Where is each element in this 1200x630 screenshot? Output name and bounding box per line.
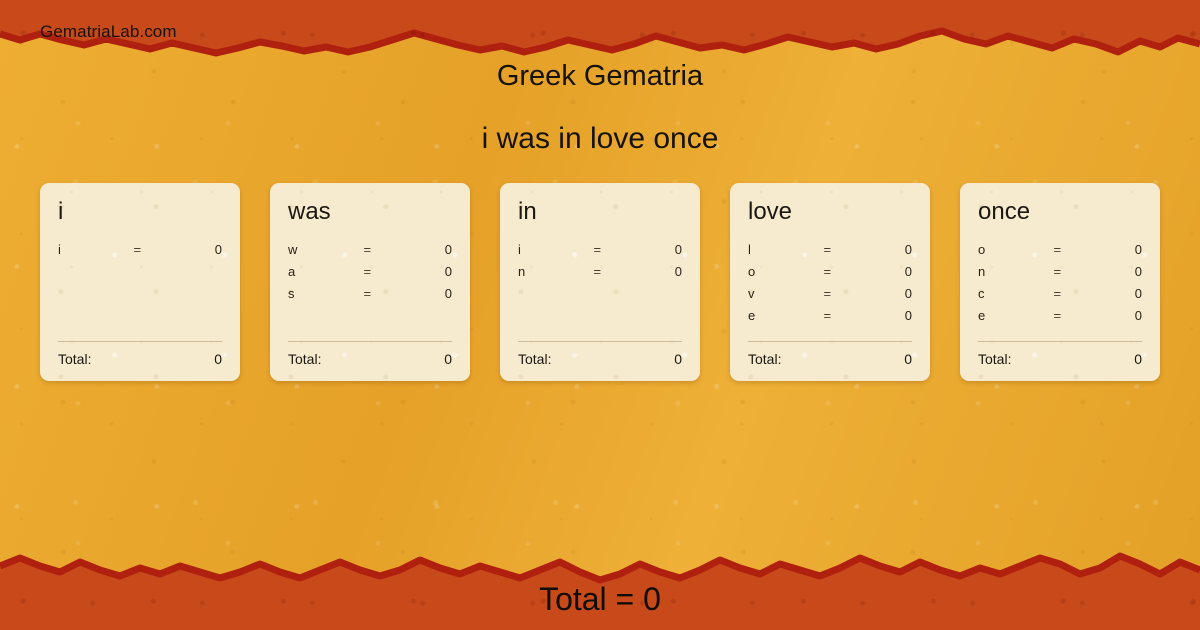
letter-value: 0 bbox=[853, 242, 912, 257]
letter-row: e=0 bbox=[748, 304, 912, 326]
card-total-value: 0 bbox=[674, 351, 682, 367]
equals-sign: = bbox=[593, 264, 623, 279]
letter-value: 0 bbox=[853, 308, 912, 323]
letter-char: e bbox=[748, 308, 823, 323]
equals-sign: = bbox=[363, 264, 393, 279]
letter-row: n=0 bbox=[978, 260, 1142, 282]
equals-sign: = bbox=[133, 242, 163, 257]
letter-char: a bbox=[288, 264, 363, 279]
equals-sign: = bbox=[1053, 308, 1083, 323]
letter-row: s=0 bbox=[288, 282, 452, 304]
letter-value: 0 bbox=[623, 264, 682, 279]
letter-char: n bbox=[978, 264, 1053, 279]
word-cards-row: ii=0Total:0wasw=0a=0s=0Total:0ini=0n=0To… bbox=[40, 183, 1160, 381]
letter-row: w=0 bbox=[288, 238, 452, 260]
card-divider bbox=[518, 341, 682, 342]
letter-row: e=0 bbox=[978, 304, 1142, 326]
letter-value: 0 bbox=[393, 242, 452, 257]
letter-char: o bbox=[748, 264, 823, 279]
letter-value-list: i=0n=0 bbox=[518, 238, 682, 341]
card-total-label: Total: bbox=[288, 351, 444, 367]
card-total-value: 0 bbox=[444, 351, 452, 367]
grand-total: Total = 0 bbox=[0, 581, 1200, 618]
letter-row: i=0 bbox=[518, 238, 682, 260]
letter-char: v bbox=[748, 286, 823, 301]
letter-value: 0 bbox=[1083, 242, 1142, 257]
letter-value: 0 bbox=[853, 264, 912, 279]
card-word-title: in bbox=[518, 199, 682, 224]
letter-row: i=0 bbox=[58, 238, 222, 260]
letter-row: n=0 bbox=[518, 260, 682, 282]
letter-char: c bbox=[978, 286, 1053, 301]
equals-sign: = bbox=[363, 242, 393, 257]
equals-sign: = bbox=[1053, 264, 1083, 279]
equals-sign: = bbox=[823, 264, 853, 279]
card-total-value: 0 bbox=[904, 351, 912, 367]
page-title: Greek Gematria bbox=[0, 60, 1200, 93]
card-word-title: once bbox=[978, 199, 1142, 224]
word-card: onceo=0n=0c=0e=0Total:0 bbox=[960, 183, 1160, 381]
letter-row: c=0 bbox=[978, 282, 1142, 304]
card-total-value: 0 bbox=[214, 351, 222, 367]
letter-char: i bbox=[518, 242, 593, 257]
letter-row: l=0 bbox=[748, 238, 912, 260]
site-logo[interactable]: GematriaLab.com bbox=[40, 22, 177, 42]
word-card: ini=0n=0Total:0 bbox=[500, 183, 700, 381]
card-total-label: Total: bbox=[58, 351, 214, 367]
letter-char: s bbox=[288, 286, 363, 301]
letter-char: l bbox=[748, 242, 823, 257]
letter-value: 0 bbox=[393, 264, 452, 279]
card-total-row: Total:0 bbox=[288, 351, 452, 367]
letter-row: o=0 bbox=[748, 260, 912, 282]
word-card: lovel=0o=0v=0e=0Total:0 bbox=[730, 183, 930, 381]
letter-value-list: o=0n=0c=0e=0 bbox=[978, 238, 1142, 341]
letter-char: w bbox=[288, 242, 363, 257]
card-total-label: Total: bbox=[748, 351, 904, 367]
card-divider bbox=[748, 341, 912, 342]
query-phrase: i was in love once bbox=[0, 122, 1200, 156]
letter-char: o bbox=[978, 242, 1053, 257]
card-divider bbox=[58, 341, 222, 342]
card-total-row: Total:0 bbox=[748, 351, 912, 367]
word-card: wasw=0a=0s=0Total:0 bbox=[270, 183, 470, 381]
card-total-label: Total: bbox=[518, 351, 674, 367]
equals-sign: = bbox=[1053, 286, 1083, 301]
letter-value-list: w=0a=0s=0 bbox=[288, 238, 452, 341]
letter-value: 0 bbox=[1083, 286, 1142, 301]
letter-row: a=0 bbox=[288, 260, 452, 282]
letter-row: v=0 bbox=[748, 282, 912, 304]
letter-value: 0 bbox=[1083, 308, 1142, 323]
card-total-row: Total:0 bbox=[978, 351, 1142, 367]
gematria-result-page: GematriaLab.com Greek Gematria i was in … bbox=[0, 0, 1200, 630]
letter-value: 0 bbox=[393, 286, 452, 301]
equals-sign: = bbox=[593, 242, 623, 257]
card-divider bbox=[978, 341, 1142, 342]
letter-row: o=0 bbox=[978, 238, 1142, 260]
letter-char: i bbox=[58, 242, 133, 257]
equals-sign: = bbox=[363, 286, 393, 301]
equals-sign: = bbox=[823, 286, 853, 301]
equals-sign: = bbox=[1053, 242, 1083, 257]
equals-sign: = bbox=[823, 308, 853, 323]
letter-char: e bbox=[978, 308, 1053, 323]
card-total-label: Total: bbox=[978, 351, 1134, 367]
letter-value: 0 bbox=[853, 286, 912, 301]
card-total-row: Total:0 bbox=[58, 351, 222, 367]
equals-sign: = bbox=[823, 242, 853, 257]
card-word-title: love bbox=[748, 199, 912, 224]
letter-value-list: i=0 bbox=[58, 238, 222, 341]
card-word-title: i bbox=[58, 199, 222, 224]
word-card: ii=0Total:0 bbox=[40, 183, 240, 381]
card-divider bbox=[288, 341, 452, 342]
card-total-row: Total:0 bbox=[518, 351, 682, 367]
letter-value: 0 bbox=[623, 242, 682, 257]
letter-value-list: l=0o=0v=0e=0 bbox=[748, 238, 912, 341]
letter-value: 0 bbox=[1083, 264, 1142, 279]
letter-value: 0 bbox=[163, 242, 222, 257]
card-word-title: was bbox=[288, 199, 452, 224]
card-total-value: 0 bbox=[1134, 351, 1142, 367]
letter-char: n bbox=[518, 264, 593, 279]
